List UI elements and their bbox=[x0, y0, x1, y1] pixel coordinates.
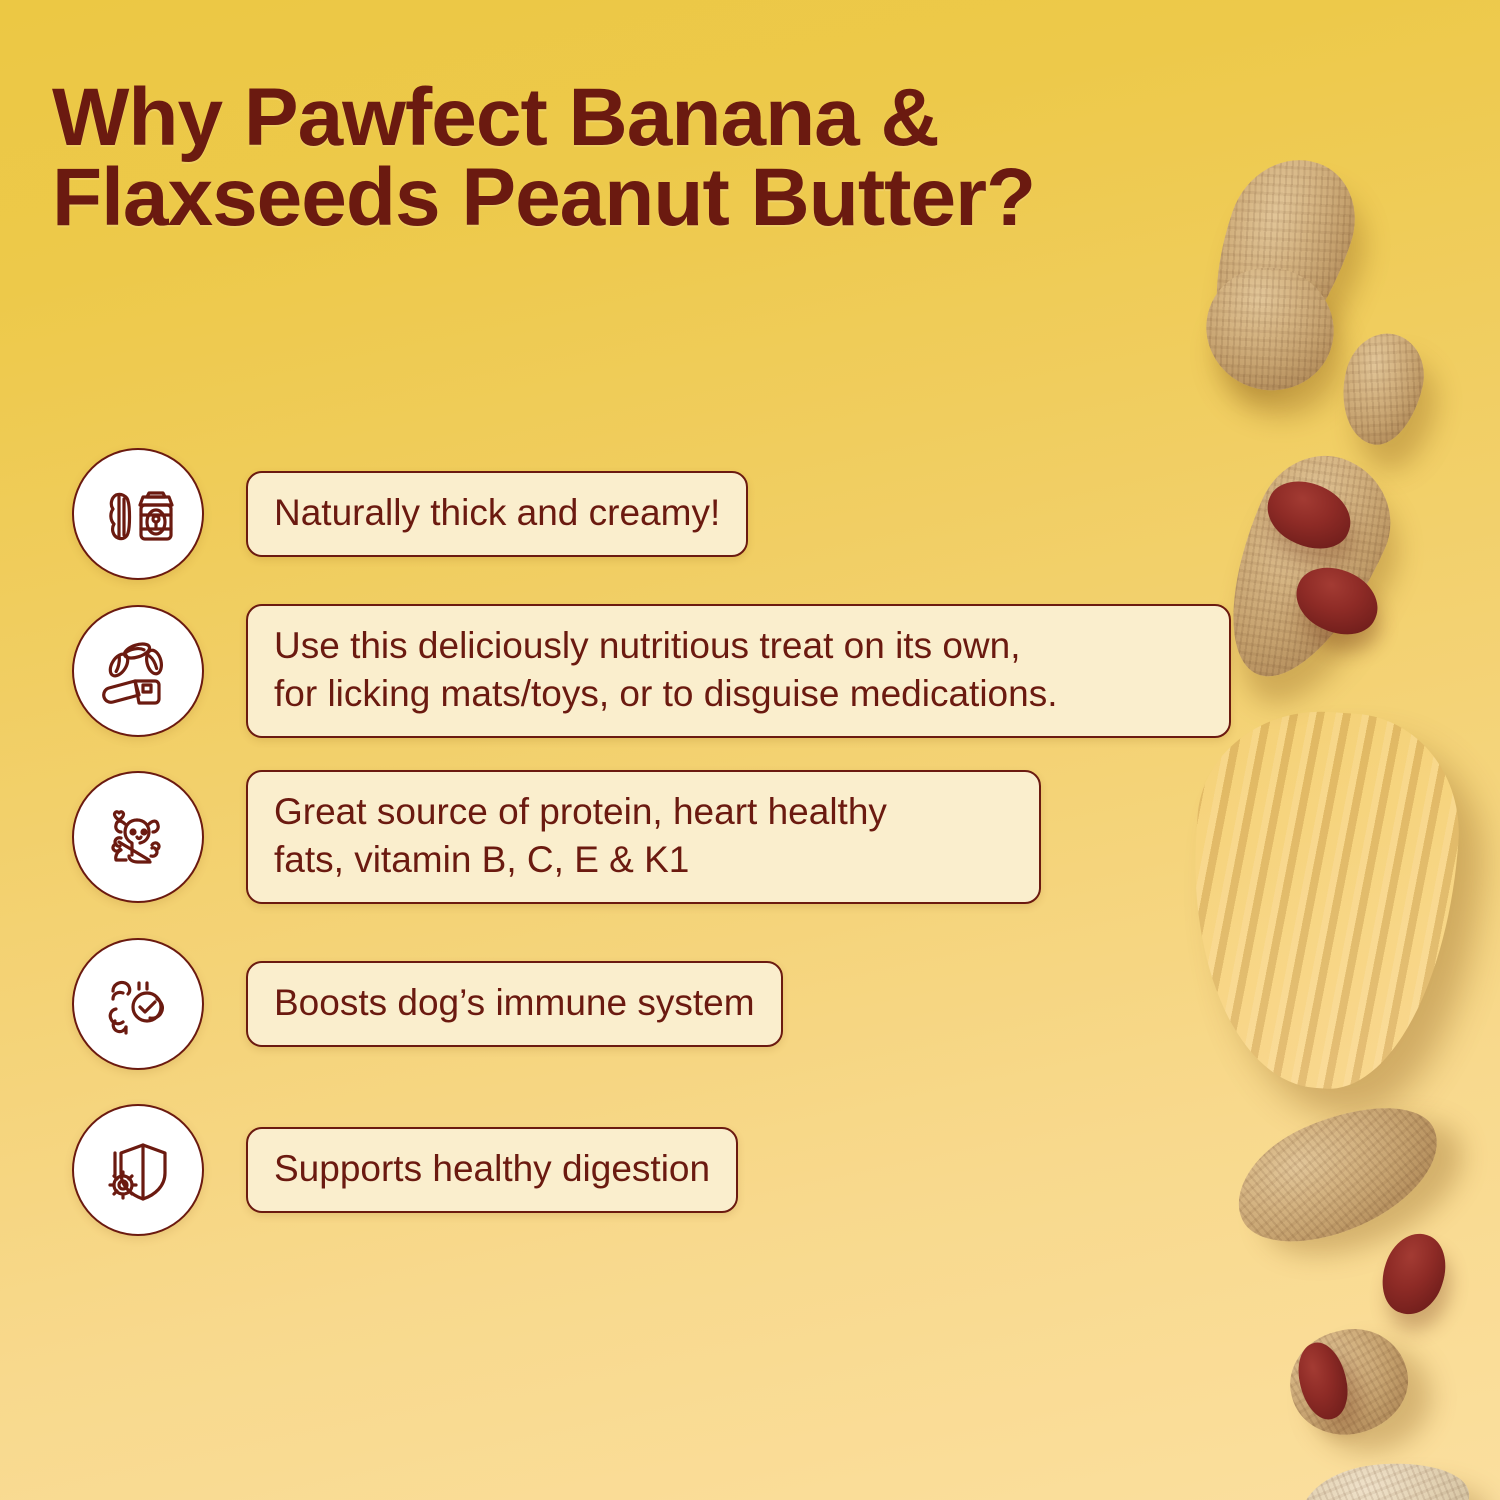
dog-with-bone-icon bbox=[72, 771, 204, 903]
peanut-butter-smear-icon bbox=[1179, 703, 1467, 1096]
peanut-kernel-in-shell-icon bbox=[1291, 1338, 1355, 1425]
benefit-row-4: Boosts dog’s immune system bbox=[72, 938, 783, 1070]
page-title: Why Pawfect Banana & Flaxseeds Peanut Bu… bbox=[52, 78, 1282, 239]
peanut-jar-icon bbox=[72, 448, 204, 580]
peanut-shell-whole-lobe-icon bbox=[1190, 250, 1351, 407]
benefit-text-2: Use this deliciously nutritious treat on… bbox=[246, 604, 1231, 738]
poster-canvas: Why Pawfect Banana & Flaxseeds Peanut Bu… bbox=[0, 0, 1500, 1500]
gut-health-check-icon bbox=[72, 938, 204, 1070]
benefit-text-4: Boosts dog’s immune system bbox=[246, 961, 783, 1047]
benefit-row-2: Use this deliciously nutritious treat on… bbox=[72, 604, 1231, 738]
peanut-shell-small-icon bbox=[1331, 326, 1432, 453]
peanut-kernel-upper-icon bbox=[1257, 469, 1361, 561]
flaxseeds-scoop-icon bbox=[72, 605, 204, 737]
shield-germ-icon bbox=[72, 1104, 204, 1236]
peanut-shell-cracked-icon bbox=[1279, 1317, 1419, 1446]
benefit-text-1: Naturally thick and creamy! bbox=[246, 471, 748, 557]
peanut-kernel-lower-icon bbox=[1286, 556, 1388, 647]
peanut-shell-bottom-edge-icon bbox=[1296, 1455, 1474, 1500]
benefit-row-1: Naturally thick and creamy! bbox=[72, 448, 748, 580]
benefit-row-3: Great source of protein, heart healthy f… bbox=[72, 770, 1041, 904]
benefit-text-5: Supports healthy digestion bbox=[246, 1127, 738, 1213]
peanut-shell-lower-icon bbox=[1218, 1080, 1457, 1269]
benefit-text-3: Great source of protein, heart healthy f… bbox=[246, 770, 1041, 904]
benefit-row-5: Supports healthy digestion bbox=[72, 1104, 738, 1236]
peanut-kernel-loose-icon bbox=[1373, 1226, 1455, 1323]
